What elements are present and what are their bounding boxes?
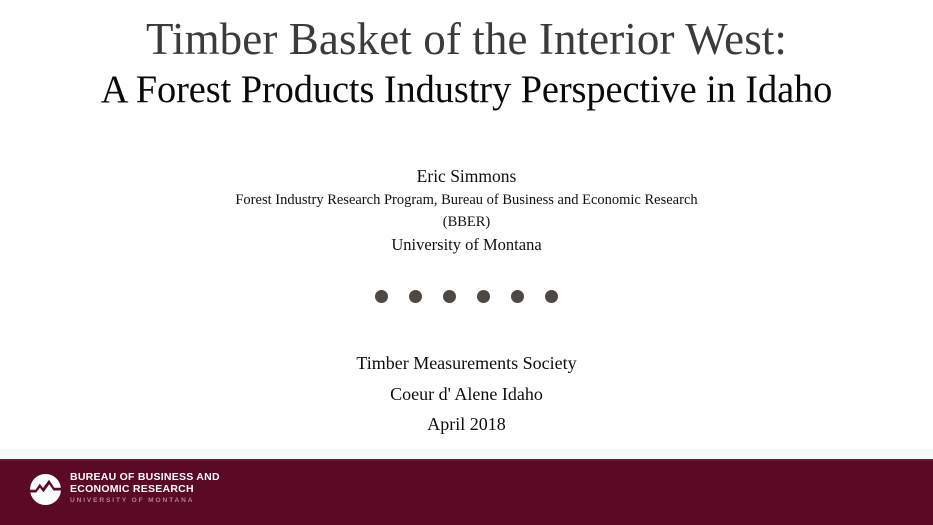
- presentation-title-slide: Timber Basket of the Interior West: A Fo…: [0, 0, 933, 525]
- author-block: Eric Simmons Forest Industry Research Pr…: [0, 164, 933, 256]
- title-line-2: A Forest Products Industry Perspective i…: [7, 66, 926, 114]
- author-affiliation: Forest Industry Research Program, Bureau…: [0, 189, 933, 211]
- venue-location: Coeur d' Alene Idaho: [0, 379, 933, 410]
- dot-icon: [443, 290, 456, 303]
- bber-logo: BUREAU OF BUSINESS AND ECONOMIC RESEARCH…: [30, 472, 220, 506]
- dot-icon: [545, 290, 558, 303]
- dot-icon: [375, 290, 388, 303]
- author-institution: University of Montana: [0, 233, 933, 256]
- author-affiliation-acronym: (BBER): [0, 211, 933, 233]
- bber-logo-line-1: BUREAU OF BUSINESS AND: [70, 472, 220, 484]
- dot-icon: [477, 290, 490, 303]
- bber-logo-line-3: UNIVERSITY OF MONTANA: [70, 495, 220, 506]
- venue-date: April 2018: [0, 409, 933, 440]
- author-name: Eric Simmons: [0, 164, 933, 189]
- dot-icon: [409, 290, 422, 303]
- bber-logo-text: BUREAU OF BUSINESS AND ECONOMIC RESEARCH…: [70, 472, 220, 506]
- bber-logo-line-2: ECONOMIC RESEARCH: [70, 484, 220, 496]
- venue-block: Timber Measurements Society Coeur d' Ale…: [0, 348, 933, 440]
- venue-event: Timber Measurements Society: [0, 348, 933, 379]
- footer-top-gap: [0, 449, 933, 459]
- title-line-1: Timber Basket of the Interior West:: [0, 12, 933, 66]
- page-title: Timber Basket of the Interior West: A Fo…: [0, 12, 933, 114]
- dot-icon: [511, 290, 524, 303]
- dot-separator: [0, 290, 933, 303]
- bber-mountain-logo-icon: [30, 474, 61, 505]
